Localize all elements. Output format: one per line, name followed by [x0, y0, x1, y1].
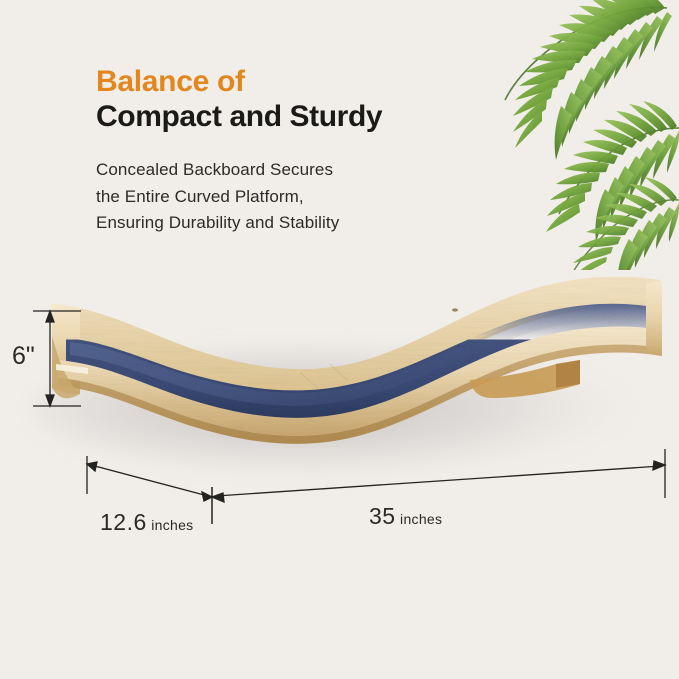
headline-block: Balance of Compact and Sturdy Concealed …: [96, 64, 526, 236]
shelf-screw: [452, 308, 458, 311]
headline-accent-line: Balance of: [96, 64, 526, 99]
width-unit: inches: [400, 511, 442, 527]
subheadline-line-2: the Entire Curved Platform,: [96, 184, 526, 210]
depth-value: 12.6: [100, 509, 147, 535]
width-dimension-label: 35 inches: [369, 503, 442, 530]
subheadline-line-1: Concealed Backboard Secures: [96, 157, 526, 183]
shelf-right-end: [646, 281, 662, 356]
subheadline-block: Concealed Backboard Secures the Entire C…: [96, 157, 526, 236]
infographic-page: Balance of Compact and Sturdy Concealed …: [0, 0, 679, 679]
depth-unit: inches: [151, 517, 193, 533]
depth-dimension-label: 12.6 inches: [100, 509, 194, 536]
width-value: 35: [369, 503, 396, 529]
palm-frond-lower: [571, 177, 679, 270]
palm-frond-middle: [546, 101, 679, 242]
palm-frond-upper: [505, 0, 672, 160]
product-photo: [0, 268, 679, 498]
subheadline-line-3: Ensuring Durability and Stability: [96, 210, 526, 236]
headline-main-line: Compact and Sturdy: [96, 99, 526, 135]
shelf-right-bracket-edge: [556, 360, 580, 388]
